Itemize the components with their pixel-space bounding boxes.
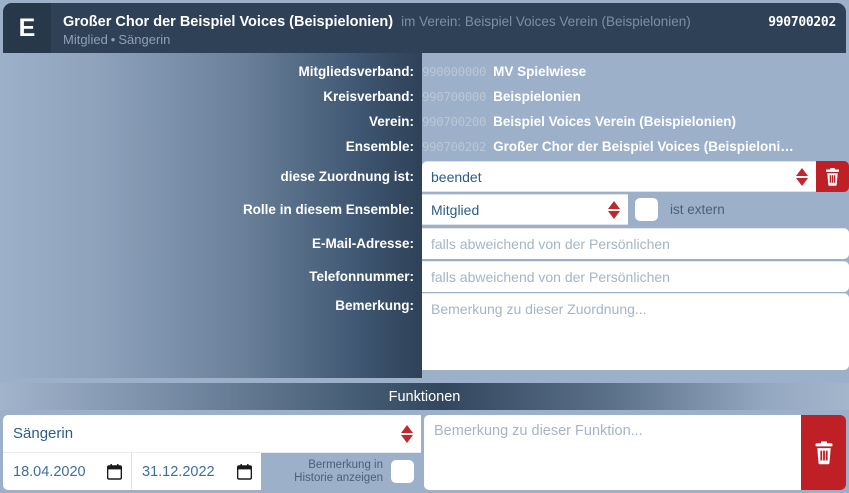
function-row-left: Sängerin 18.04.2020 31.12.2022 bbox=[3, 415, 421, 490]
calendar-icon bbox=[107, 464, 122, 480]
history-label-line1: Bermerkung in bbox=[308, 459, 383, 471]
info-value: 990700202 Großer Chor der Beispiel Voice… bbox=[422, 139, 849, 154]
entity-header-primary-line: Großer Chor der Beispiel Voices (Beispie… bbox=[63, 14, 836, 30]
form-body: Mitgliedsverband: 990000000 MV Spielwies… bbox=[0, 53, 849, 378]
remark-textarea[interactable]: Bemerkung zu dieser Zuordnung... bbox=[422, 293, 849, 370]
info-label: Ensemble: bbox=[0, 139, 422, 154]
phone-row: Telefonnummer: falls abweichend von der … bbox=[0, 260, 849, 293]
info-row-kreisverband: Kreisverband: 990700000 Beispielonien bbox=[0, 84, 849, 109]
role-row: Rolle in diesem Ensemble: Mitglied ist e… bbox=[0, 193, 849, 226]
history-label: Bermerkung in Historie anzeigen bbox=[294, 459, 383, 485]
remark-row: Bemerkung: Bemerkung zu dieser Zuordnung… bbox=[0, 293, 849, 373]
info-label: Kreisverband: bbox=[0, 89, 422, 104]
functions-section-title: Funktionen bbox=[389, 389, 461, 405]
info-row-verein: Verein: 990700200 Beispiel Voices Verein… bbox=[0, 109, 849, 134]
status-control-group: beendet bbox=[422, 161, 849, 192]
status-select[interactable]: beendet bbox=[422, 161, 816, 192]
spinner-updown-icon[interactable] bbox=[401, 424, 413, 444]
info-value: 990700000 Beispielonien bbox=[422, 89, 849, 104]
info-number: 990000000 bbox=[422, 64, 486, 79]
extern-checkbox[interactable] bbox=[635, 198, 658, 221]
phone-label: Telefonnummer: bbox=[0, 269, 422, 284]
status-row: diese Zuordnung ist: beendet bbox=[0, 160, 849, 193]
functions-section-header: Funktionen bbox=[0, 383, 849, 410]
email-row: E-Mail-Adresse: falls abweichend von der… bbox=[0, 227, 849, 260]
role-label: Rolle in diesem Ensemble: bbox=[0, 202, 422, 217]
entity-header-body: Großer Chor der Beispiel Voices (Beispie… bbox=[51, 3, 846, 53]
trash-icon bbox=[824, 168, 841, 186]
email-label: E-Mail-Adresse: bbox=[0, 236, 422, 251]
extern-field-group: ist extern bbox=[628, 194, 849, 225]
entity-id: 990700202 bbox=[768, 15, 836, 30]
delete-assignment-button[interactable] bbox=[816, 161, 849, 192]
info-label: Mitgliedsverband: bbox=[0, 64, 422, 79]
role-control-group: Mitglied ist extern bbox=[422, 194, 849, 225]
phone-input[interactable]: falls abweichend von der Persönlichen bbox=[422, 261, 849, 292]
spinner-updown-icon[interactable] bbox=[608, 200, 620, 220]
role-select[interactable]: Mitglied bbox=[422, 194, 628, 225]
history-label-line2: Historie anzeigen bbox=[294, 472, 383, 484]
info-name: Großer Chor der Beispiel Voices (Beispie… bbox=[493, 139, 794, 154]
entity-header: E Großer Chor der Beispiel Voices (Beisp… bbox=[3, 3, 846, 53]
info-row-ensemble: Ensemble: 990700202 Großer Chor der Beis… bbox=[0, 134, 849, 159]
function-date-row: 18.04.2020 31.12.2022 bbox=[3, 453, 421, 490]
function-date-from-value: 18.04.2020 bbox=[13, 464, 86, 480]
function-date-to-value: 31.12.2022 bbox=[142, 464, 215, 480]
status-label: diese Zuordnung ist: bbox=[0, 169, 422, 184]
function-remark-textarea[interactable]: Bemerkung zu dieser Funktion... bbox=[424, 415, 801, 490]
entity-title: Großer Chor der Beispiel Voices (Beispie… bbox=[63, 14, 393, 30]
delete-function-button[interactable] bbox=[801, 415, 846, 490]
assignment-editor-panel: E Großer Chor der Beispiel Voices (Beisp… bbox=[0, 0, 849, 493]
function-date-from[interactable]: 18.04.2020 bbox=[3, 453, 132, 490]
trash-icon bbox=[813, 441, 835, 465]
calendar-icon bbox=[237, 464, 252, 480]
status-select-value: beendet bbox=[431, 169, 482, 185]
info-name: Beispielonien bbox=[493, 89, 581, 104]
email-input[interactable]: falls abweichend von der Persönlichen bbox=[422, 228, 849, 259]
entity-context: im Verein: Beispiel Voices Verein (Beisp… bbox=[401, 14, 760, 29]
entity-role: Mitglied bbox=[63, 32, 108, 47]
info-label: Verein: bbox=[0, 114, 422, 129]
email-control-group: falls abweichend von der Persönlichen bbox=[422, 228, 849, 259]
function-row-right: Bemerkung zu dieser Funktion... bbox=[424, 415, 846, 490]
entity-voice: Sängerin bbox=[118, 32, 170, 47]
header-separator-dot: • bbox=[108, 32, 119, 47]
function-select[interactable]: Sängerin bbox=[3, 415, 421, 453]
info-row-mitgliedsverband: Mitgliedsverband: 990000000 MV Spielwies… bbox=[0, 59, 849, 84]
entity-type-badge: E bbox=[3, 3, 51, 53]
remark-label: Bemerkung: bbox=[0, 293, 422, 313]
role-select-value: Mitglied bbox=[431, 202, 479, 218]
history-checkbox[interactable] bbox=[391, 460, 414, 483]
function-select-value: Sängerin bbox=[13, 425, 73, 442]
remark-control-group: Bemerkung zu dieser Zuordnung... bbox=[422, 293, 849, 370]
function-row: Sängerin 18.04.2020 31.12.2022 bbox=[0, 415, 849, 493]
info-value: 990700200 Beispiel Voices Verein (Beispi… bbox=[422, 114, 849, 129]
phone-control-group: falls abweichend von der Persönlichen bbox=[422, 261, 849, 292]
info-number: 990700000 bbox=[422, 89, 486, 104]
info-name: Beispiel Voices Verein (Beispielonien) bbox=[493, 114, 736, 129]
info-name: MV Spielwiese bbox=[493, 64, 586, 79]
info-number: 990700202 bbox=[422, 139, 486, 154]
spinner-updown-icon[interactable] bbox=[796, 167, 808, 187]
entity-header-secondary-line: Mitglied•Sängerin bbox=[63, 32, 836, 47]
function-date-to[interactable]: 31.12.2022 bbox=[132, 453, 261, 490]
history-field-group: Bermerkung in Historie anzeigen bbox=[261, 453, 421, 490]
info-value: 990000000 MV Spielwiese bbox=[422, 64, 849, 79]
extern-label: ist extern bbox=[670, 202, 725, 217]
info-number: 990700200 bbox=[422, 114, 486, 129]
